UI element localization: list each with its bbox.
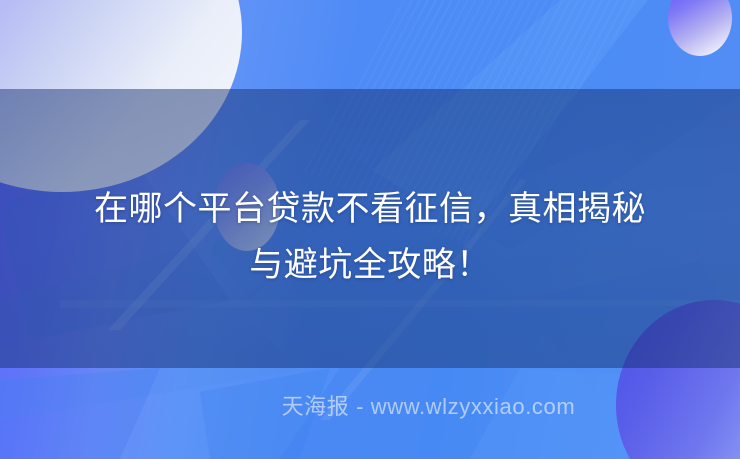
poster-canvas: 在哪个平台贷款不看征信，真相揭秘 与避坑全攻略！ 天海报 - www.wlzyx…	[0, 0, 740, 459]
watermark: 天海报 - www.wlzyxxiao.com	[0, 363, 740, 447]
watermark-text: 天海报 - www.wlzyxxiao.com	[282, 389, 576, 421]
page-title: 在哪个平台贷款不看征信，真相揭秘 与避坑全攻略！	[0, 181, 740, 293]
